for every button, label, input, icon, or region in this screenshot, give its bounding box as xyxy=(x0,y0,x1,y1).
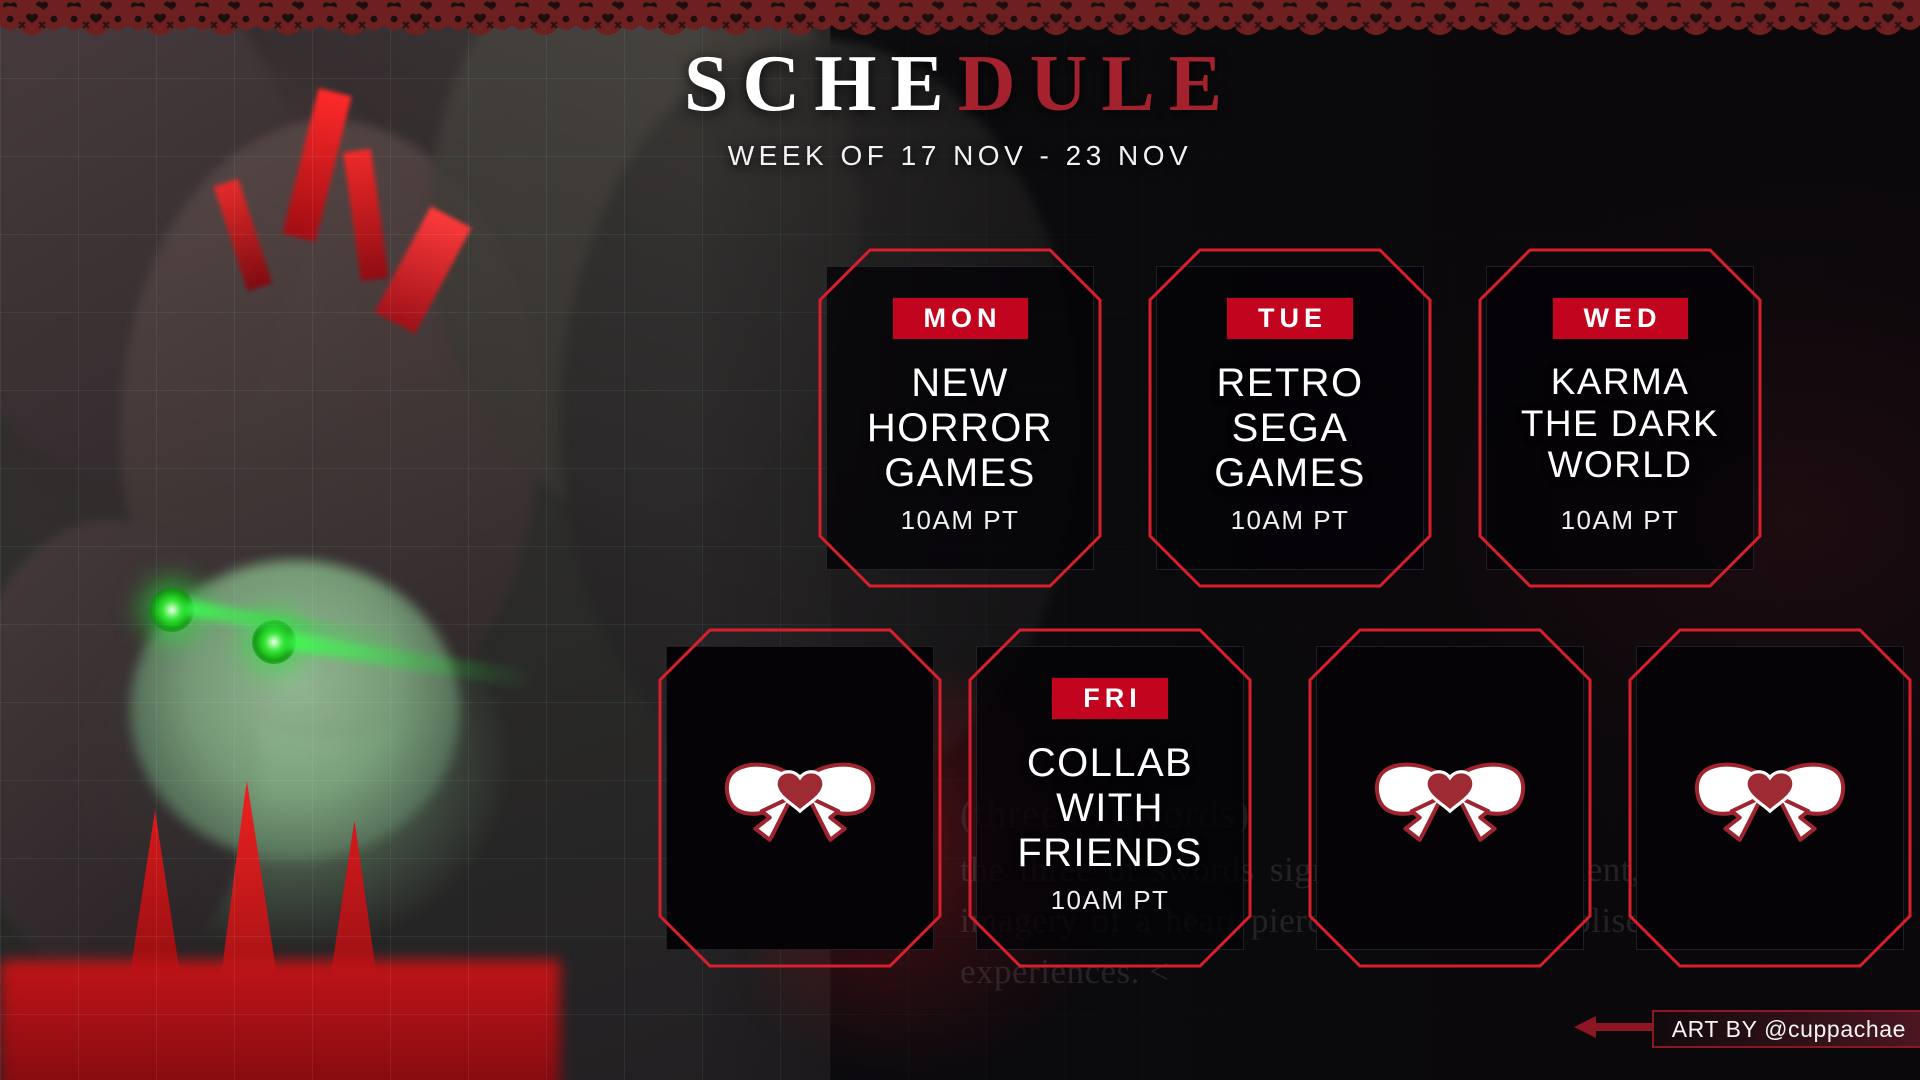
card-content: TUE RETRO SEGA GAMES 10AM PT xyxy=(1156,266,1424,570)
card-content xyxy=(1308,628,1592,968)
card-time: 10AM PT xyxy=(976,885,1244,916)
card-title: NEW HORROR GAMES xyxy=(867,361,1053,495)
card-content xyxy=(1628,628,1912,968)
lace-border-top xyxy=(0,0,1920,40)
arrow-left-icon xyxy=(1574,1014,1654,1045)
card-time: 10AM PT xyxy=(1486,505,1754,536)
bow-heart-svg xyxy=(1370,741,1530,851)
day-badge: MON xyxy=(893,298,1028,339)
header: SCHEDULE WEEK OF 17 NOV - 23 NOV xyxy=(0,44,1920,172)
bow-heart-icon xyxy=(720,741,880,856)
schedule-card-mon[interactable]: MON NEW HORROR GAMES 10AM PT xyxy=(818,248,1102,588)
week-range-subtitle: WEEK OF 17 NOV - 23 NOV xyxy=(0,140,1920,172)
page-title-red: DULE xyxy=(958,40,1236,128)
lace-border-svg xyxy=(0,0,1920,40)
credit-banner: ART BY @cuppachae xyxy=(1574,1010,1920,1048)
credit-label: ART BY @cuppachae xyxy=(1652,1010,1920,1048)
bow-heart-icon xyxy=(1690,741,1850,856)
schedule-card-tue[interactable]: TUE RETRO SEGA GAMES 10AM PT xyxy=(1148,248,1432,588)
page-title: SCHEDULE xyxy=(0,44,1920,124)
card-content: FRI COLLAB WITH FRIENDS 10AM PT xyxy=(976,646,1244,950)
schedule-card-sat[interactable] xyxy=(1308,628,1592,968)
schedule-card-sun[interactable] xyxy=(1628,628,1912,968)
schedule-graphic: (three of swords) the three of swords si… xyxy=(0,0,1920,1080)
day-badge: WED xyxy=(1553,298,1688,339)
card-title: COLLAB WITH FRIENDS xyxy=(1017,741,1202,875)
card-time: 10AM PT xyxy=(826,505,1094,536)
schedule-card-fri[interactable]: FRI COLLAB WITH FRIENDS 10AM PT xyxy=(968,628,1252,968)
arrow-left-svg xyxy=(1574,1014,1654,1040)
day-badge: FRI xyxy=(1052,678,1168,719)
card-time: 10AM PT xyxy=(1156,505,1424,536)
bow-heart-icon xyxy=(1370,741,1530,856)
schedule-card-thu[interactable] xyxy=(658,628,942,968)
card-title: RETRO SEGA GAMES xyxy=(1214,361,1365,495)
day-badge: TUE xyxy=(1227,298,1353,339)
card-content: WED KARMA THE DARK WORLD 10AM PT xyxy=(1486,266,1754,570)
schedule-card-wed[interactable]: WED KARMA THE DARK WORLD 10AM PT xyxy=(1478,248,1762,588)
bow-heart-svg xyxy=(1690,741,1850,851)
card-title: KARMA THE DARK WORLD xyxy=(1521,361,1719,485)
page-title-white: SCHE xyxy=(684,40,958,128)
card-content xyxy=(658,628,942,968)
bow-heart-svg xyxy=(720,741,880,851)
card-content: MON NEW HORROR GAMES 10AM PT xyxy=(826,266,1094,570)
